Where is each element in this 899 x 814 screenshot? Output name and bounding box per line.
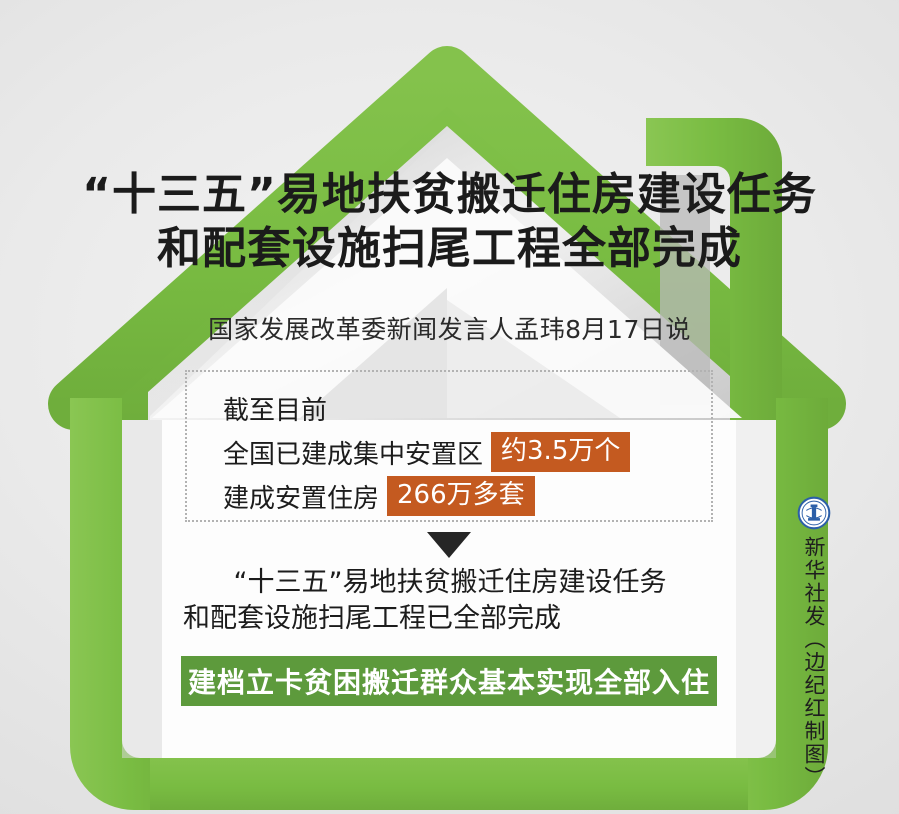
stat-value-highlight: 约3.5万个	[491, 432, 630, 472]
xinhua-seal-icon	[797, 496, 831, 530]
conclusion-line-2: 和配套设施扫尾工程已全部完成	[175, 601, 725, 637]
stat-label: 全国已建成集中安置区	[223, 434, 483, 471]
stat-value-highlight: 266万多套	[387, 476, 535, 516]
credit-block: 新华社发（边纪红制图）	[786, 496, 842, 789]
conclusion-text: “十三五”易地扶贫搬迁住房建设任务 和配套设施扫尾工程已全部完成	[175, 565, 725, 637]
highlight-banner: 建档立卡贫困搬迁群众基本实现全部入住	[181, 656, 717, 706]
statistics-box: 截至目前 全国已建成集中安置区 约3.5万个 建成安置住房 266万多套	[185, 370, 713, 522]
down-triangle-icon	[427, 532, 471, 558]
credit-text: 新华社发（边纪红制图）	[801, 536, 827, 789]
subtitle-source: 国家发展改革委新闻发言人孟玮8月17日说	[0, 310, 899, 346]
infographic-canvas: “十三五”易地扶贫搬迁住房建设任务 和配套设施扫尾工程全部完成 国家发展改革委新…	[0, 0, 899, 814]
stat-label: 建成安置住房	[223, 478, 379, 515]
stats-heading: 截至目前	[223, 390, 327, 427]
stats-row: 全国已建成集中安置区 约3.5万个	[223, 430, 711, 474]
conclusion-line-1: “十三五”易地扶贫搬迁住房建设任务	[175, 565, 725, 601]
stats-heading-row: 截至目前	[223, 386, 711, 430]
banner-text: 建档立卡贫困搬迁群众基本实现全部入住	[188, 661, 710, 701]
stats-row: 建成安置住房 266万多套	[223, 474, 711, 518]
